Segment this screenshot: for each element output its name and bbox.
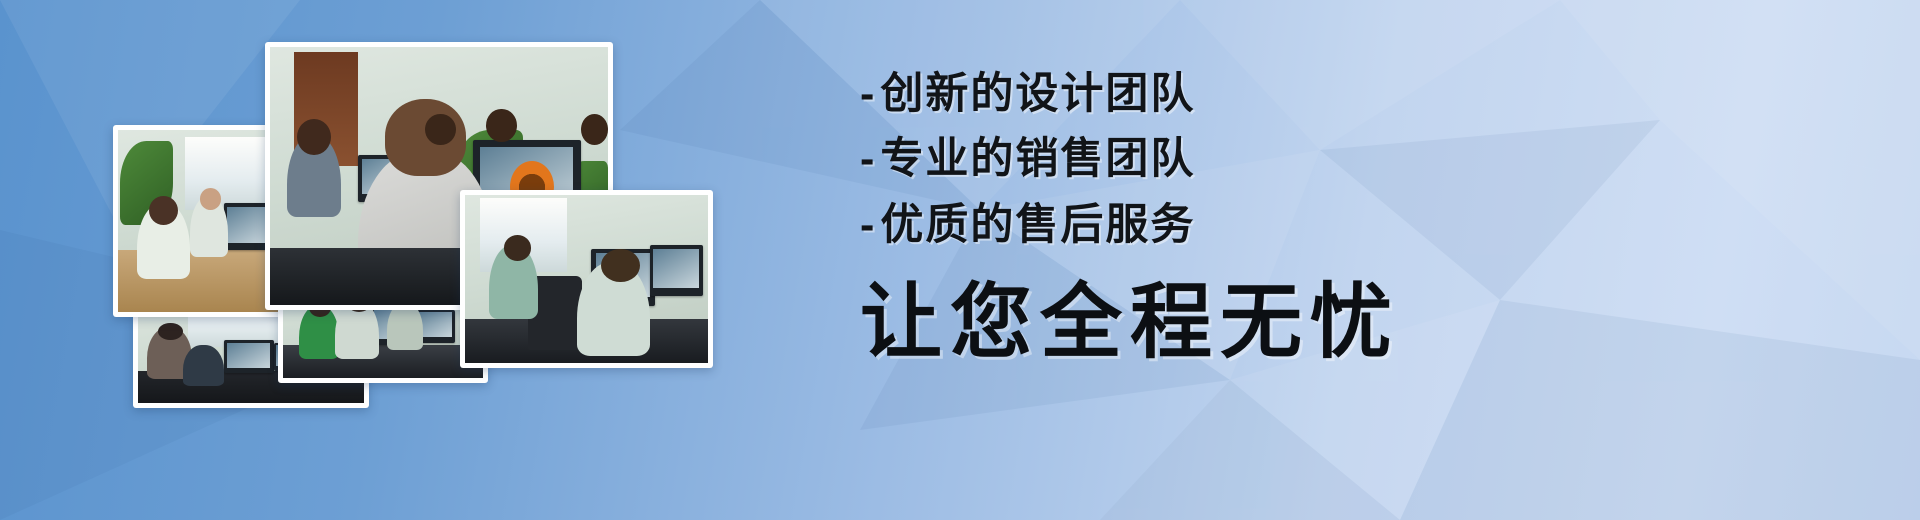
feature-bullet-item: -优质的售后服务 <box>860 193 1560 258</box>
feature-bullet-label: 专业的销售团队 <box>880 135 1195 183</box>
feature-bullet-list: -创新的设计团队 -专业的销售团队 -优质的售后服务 <box>860 62 1560 258</box>
feature-bullet-item: -创新的设计团队 <box>860 62 1560 127</box>
promo-banner: -创新的设计团队 -专业的销售团队 -优质的售后服务 让您全程无忧 <box>0 0 1920 520</box>
banner-text-block: -创新的设计团队 -专业的销售团队 -优质的售后服务 让您全程无忧 <box>860 62 1560 366</box>
feature-bullet-item: -专业的销售团队 <box>860 127 1560 192</box>
feature-bullet-label: 优质的售后服务 <box>880 201 1195 249</box>
photo-collage <box>0 0 760 520</box>
bullet-dash-marker: - <box>860 62 876 127</box>
photo-office-pair-right <box>460 190 713 368</box>
banner-headline: 让您全程无忧 <box>860 280 1560 366</box>
feature-bullet-label: 创新的设计团队 <box>880 70 1195 118</box>
bullet-dash-marker: - <box>860 127 876 192</box>
bullet-dash-marker: - <box>860 193 876 258</box>
